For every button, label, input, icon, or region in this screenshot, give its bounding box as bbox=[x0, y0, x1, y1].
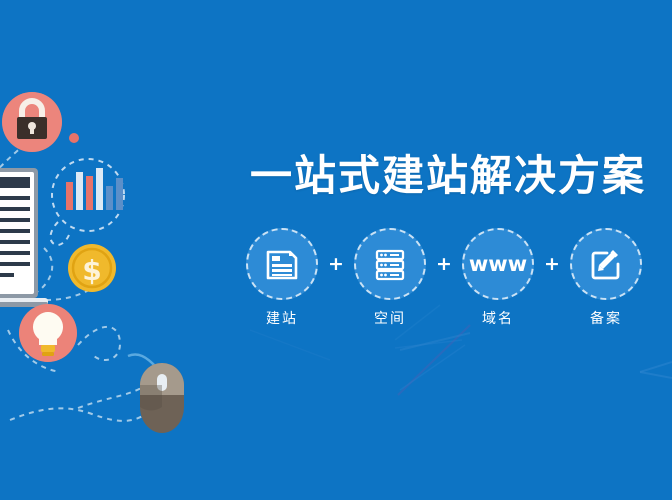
feature-row: 建站 + 空间 bbox=[244, 228, 644, 340]
feature-label: 域名 bbox=[482, 311, 514, 327]
feature-separator-3: + bbox=[544, 228, 560, 300]
hero-illustration: $ bbox=[0, 0, 240, 500]
feature-item-beian[interactable]: 备案 bbox=[568, 228, 644, 327]
www-text-icon: www bbox=[469, 252, 527, 276]
lightbulb-icon bbox=[19, 304, 77, 362]
dollar-coin-icon: $ bbox=[68, 244, 116, 292]
bar-chart-icon bbox=[66, 168, 123, 210]
edit-pencil-square-icon bbox=[589, 247, 623, 281]
laptop-document-icon bbox=[0, 168, 48, 307]
padlock-icon bbox=[2, 92, 79, 152]
feature-item-yuming[interactable]: www 域名 bbox=[460, 228, 536, 327]
svg-text:$: $ bbox=[82, 254, 101, 287]
feature-separator-2: + bbox=[436, 228, 452, 300]
feature-label: 备案 bbox=[590, 311, 622, 327]
server-rack-icon bbox=[373, 247, 407, 281]
headline: 一站式建站解决方案 bbox=[250, 150, 646, 202]
feature-label: 空间 bbox=[374, 311, 406, 327]
feature-separator-1: + bbox=[328, 228, 344, 300]
promo-banner: $ 一站式建站解决方案 bbox=[0, 0, 672, 500]
feature-item-kongjian[interactable]: 空间 bbox=[352, 228, 428, 327]
feature-circle[interactable] bbox=[570, 228, 642, 300]
computer-mouse-icon bbox=[128, 355, 184, 434]
feature-item-jianzhan[interactable]: 建站 bbox=[244, 228, 320, 327]
feature-label: 建站 bbox=[266, 311, 298, 327]
feature-circle[interactable] bbox=[354, 228, 426, 300]
feature-circle[interactable] bbox=[246, 228, 318, 300]
feature-circle[interactable]: www bbox=[462, 228, 534, 300]
webpage-document-icon bbox=[265, 247, 299, 281]
